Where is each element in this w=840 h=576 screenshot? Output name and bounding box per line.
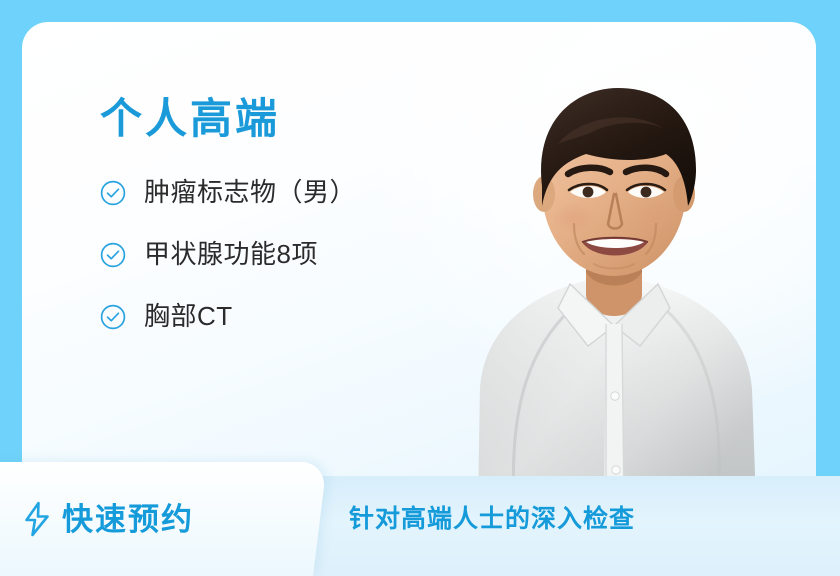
- quick-appointment-label: 快速预约: [62, 504, 194, 535]
- lightning-bolt-icon: [22, 501, 52, 537]
- list-item: 胸部CT: [100, 302, 500, 332]
- health-checkup-package-card: 个人高端 肿瘤标志物（男） 甲状腺功能8项: [0, 0, 840, 576]
- feature-label: 胸部CT: [144, 302, 233, 332]
- circle-check-icon: [100, 180, 126, 206]
- feature-label: 甲状腺功能8项: [144, 240, 318, 270]
- quick-appointment-button[interactable]: 快速预约: [22, 462, 194, 576]
- feature-label: 肿瘤标志物（男）: [144, 178, 356, 208]
- tagline-text: 针对高端人士的深入检查: [349, 507, 635, 532]
- tagline: 针对高端人士的深入检查: [349, 462, 635, 576]
- feature-list: 肿瘤标志物（男） 甲状腺功能8项 胸部CT: [100, 178, 500, 332]
- bottom-bar: 快速预约 针对高端人士的深入检查: [0, 462, 840, 576]
- circle-check-icon: [100, 242, 126, 268]
- list-item: 肿瘤标志物（男）: [100, 178, 500, 208]
- circle-check-icon: [100, 304, 126, 330]
- list-item: 甲状腺功能8项: [100, 240, 500, 270]
- page-title: 个人高端: [100, 98, 500, 140]
- package-content: 个人高端 肿瘤标志物（男） 甲状腺功能8项: [100, 98, 500, 332]
